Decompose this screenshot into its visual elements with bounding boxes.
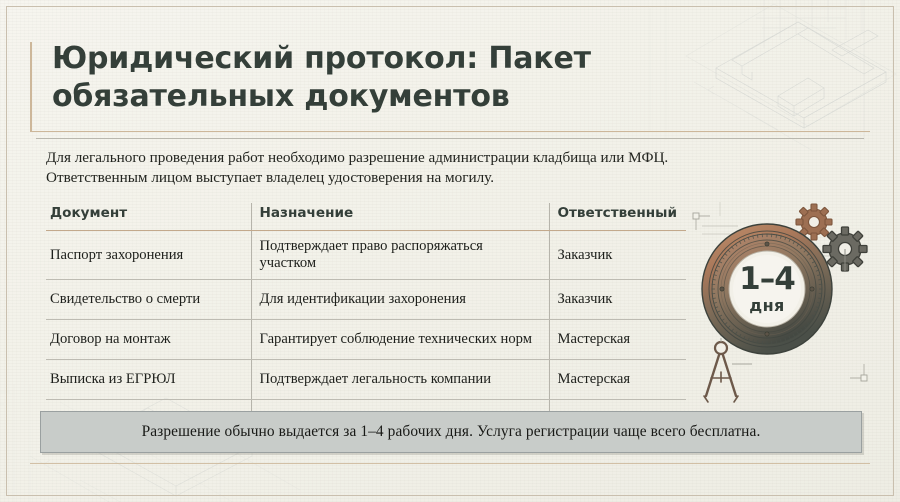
duration-ring-badge — [700, 222, 834, 356]
cell-purpose: Гарантирует соблюдение технических норм — [251, 320, 549, 360]
title-accent-bar — [30, 42, 32, 132]
documents-table: Документ Назначение Ответственный Паспор… — [46, 203, 686, 440]
intro-paragraph: Для легального проведения работ необходи… — [46, 148, 836, 188]
title-block: Юридический протокол: Пакет обязательных… — [30, 40, 630, 116]
header-divider-tan — [30, 131, 870, 132]
cell-document: Выписка из ЕГРЮЛ — [46, 360, 251, 400]
table-header-purpose: Назначение — [251, 203, 549, 231]
cell-responsible: Мастерская — [549, 360, 686, 400]
cell-document: Договор на монтаж — [46, 320, 251, 360]
table-row: Паспорт захороненияПодтверждает право ра… — [46, 231, 686, 280]
bottom-rule — [30, 463, 870, 464]
page-title: Юридический протокол: Пакет обязательных… — [30, 40, 630, 116]
callout-text: Разрешение обычно выдается за 1–4 рабочи… — [142, 423, 761, 441]
cell-document: Свидетельство о смерти — [46, 280, 251, 320]
cell-document: Паспорт захоронения — [46, 231, 251, 280]
intro-line-2: Ответственным лицом выступает владелец у… — [46, 168, 836, 188]
table-row: Выписка из ЕГРЮЛПодтверждает легальность… — [46, 360, 686, 400]
table-header-document: Документ — [46, 203, 251, 231]
table-row: Договор на монтажГарантирует соблюдение … — [46, 320, 686, 360]
documents-table-wrapper: Документ Назначение Ответственный Паспор… — [46, 203, 686, 440]
header-divider-gray — [36, 138, 864, 139]
badge-area: 1–4 дня — [690, 196, 880, 412]
cell-purpose: Для идентификации захоронения — [251, 280, 549, 320]
table-row: Свидетельство о смертиДля идентификации … — [46, 280, 686, 320]
cell-responsible: Мастерская — [549, 320, 686, 360]
cell-purpose: Подтверждает право распоряжаться участко… — [251, 231, 549, 280]
cell-responsible: Заказчик — [549, 280, 686, 320]
callout-bar: Разрешение обычно выдается за 1–4 рабочи… — [40, 411, 862, 453]
slide-canvas: Юридический протокол: Пакет обязательных… — [0, 0, 900, 502]
table-header-responsible: Ответственный — [549, 203, 686, 231]
table-header-row: Документ Назначение Ответственный — [46, 203, 686, 231]
documents-table-body: Паспорт захороненияПодтверждает право ра… — [46, 231, 686, 440]
cell-purpose: Подтверждает легальность компании — [251, 360, 549, 400]
cell-responsible: Заказчик — [549, 231, 686, 280]
intro-line-1: Для легального проведения работ необходи… — [46, 148, 836, 168]
